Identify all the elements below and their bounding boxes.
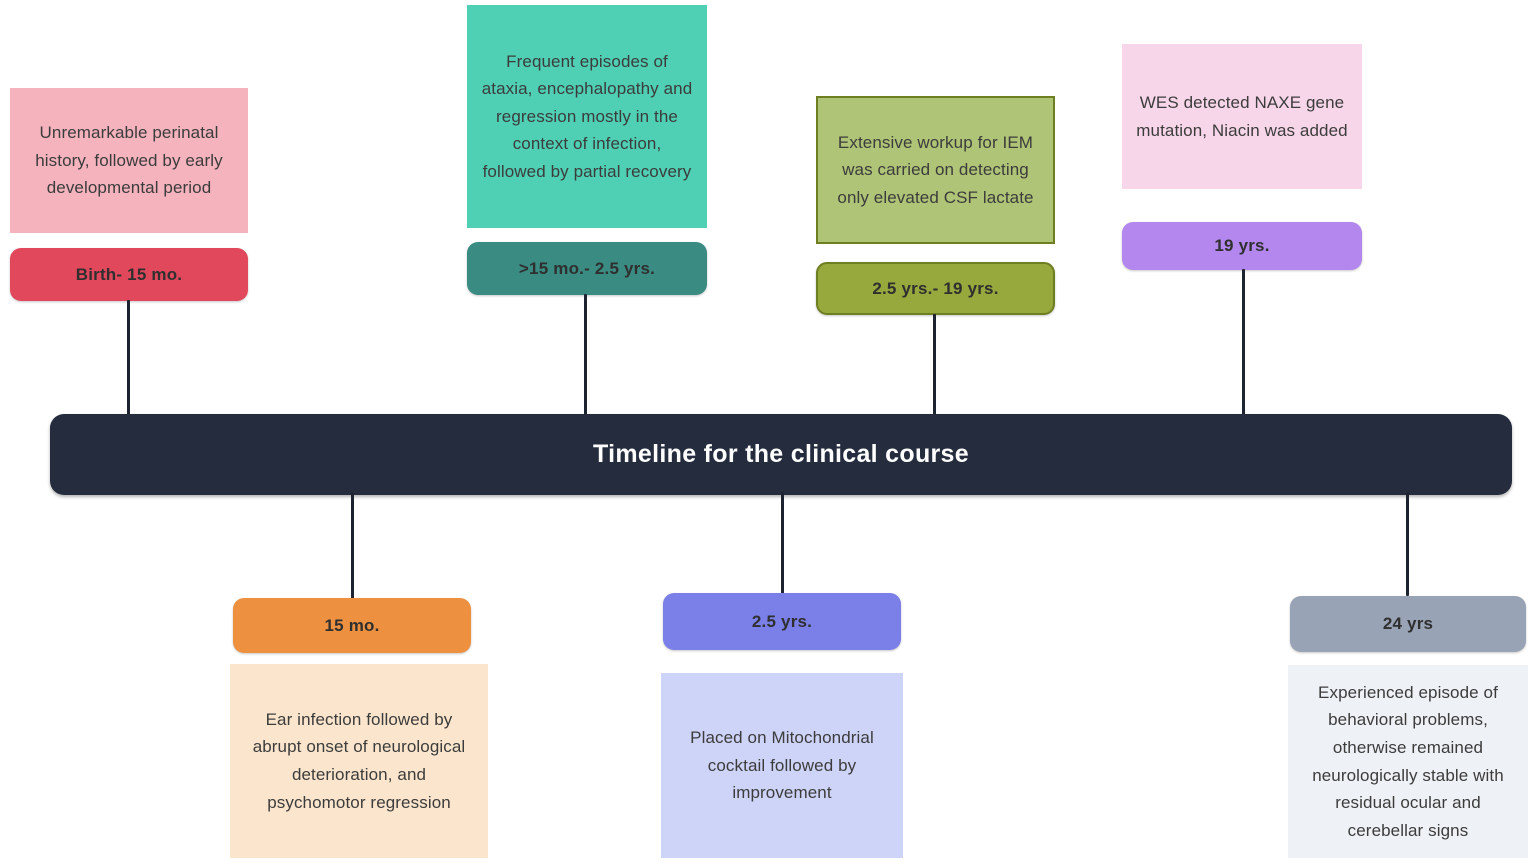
connector-line-gt15mo-2-5yrs — [584, 294, 587, 418]
period-pill-birth-15mo[interactable]: Birth- 15 mo. — [10, 248, 248, 301]
description-box-19yrs: WES detected NAXE gene mutation, Niacin … — [1122, 44, 1362, 189]
timeline-bar: Timeline for the clinical course — [50, 414, 1512, 495]
description-text: Extensive workup for IEM was carried on … — [830, 129, 1041, 212]
description-box-15mo: Ear infection followed by abrupt onset o… — [230, 664, 488, 858]
description-box-gt15mo-2-5yrs: Frequent episodes of ataxia, encephalopa… — [467, 5, 707, 228]
description-text: Frequent episodes of ataxia, encephalopa… — [479, 48, 695, 186]
period-pill-gt15mo-2-5yrs[interactable]: >15 mo.- 2.5 yrs. — [467, 242, 707, 295]
period-label: 15 mo. — [324, 616, 379, 636]
description-text: Unremarkable perinatal history, followed… — [22, 119, 236, 202]
description-box-24yrs: Experienced episode of behavioral proble… — [1288, 665, 1528, 858]
period-label: >15 mo.- 2.5 yrs. — [519, 259, 655, 279]
period-label: 2.5 yrs.- 19 yrs. — [872, 279, 998, 299]
connector-line-19yrs — [1242, 269, 1245, 418]
description-text: Ear infection followed by abrupt onset o… — [242, 706, 476, 816]
connector-line-2-5yrs — [781, 492, 784, 594]
connector-line-24yrs — [1406, 492, 1409, 596]
description-text: Experienced episode of behavioral proble… — [1300, 679, 1516, 844]
description-text: WES detected NAXE gene mutation, Niacin … — [1134, 89, 1350, 144]
description-text: Placed on Mitochondrial cocktail followe… — [673, 724, 891, 807]
timeline-title: Timeline for the clinical course — [593, 440, 969, 469]
connector-line-birth-15mo — [127, 300, 130, 418]
period-pill-2-5yrs-19yrs[interactable]: 2.5 yrs.- 19 yrs. — [816, 262, 1055, 315]
period-label: 19 yrs. — [1214, 236, 1269, 256]
description-box-2-5yrs-19yrs: Extensive workup for IEM was carried on … — [816, 96, 1055, 244]
period-pill-19yrs[interactable]: 19 yrs. — [1122, 222, 1362, 270]
period-pill-24yrs[interactable]: 24 yrs — [1290, 596, 1526, 652]
connector-line-15mo — [351, 492, 354, 602]
period-label: Birth- 15 mo. — [76, 265, 183, 285]
connector-line-2-5yrs-19yrs — [933, 314, 936, 418]
description-box-birth-15mo: Unremarkable perinatal history, followed… — [10, 88, 248, 233]
description-box-2-5yrs: Placed on Mitochondrial cocktail followe… — [661, 673, 903, 858]
period-label: 24 yrs — [1383, 614, 1433, 634]
timeline-diagram: Unremarkable perinatal history, followed… — [0, 0, 1535, 864]
period-pill-2-5yrs[interactable]: 2.5 yrs. — [663, 593, 901, 650]
period-label: 2.5 yrs. — [752, 612, 812, 632]
period-pill-15mo[interactable]: 15 mo. — [233, 598, 471, 653]
